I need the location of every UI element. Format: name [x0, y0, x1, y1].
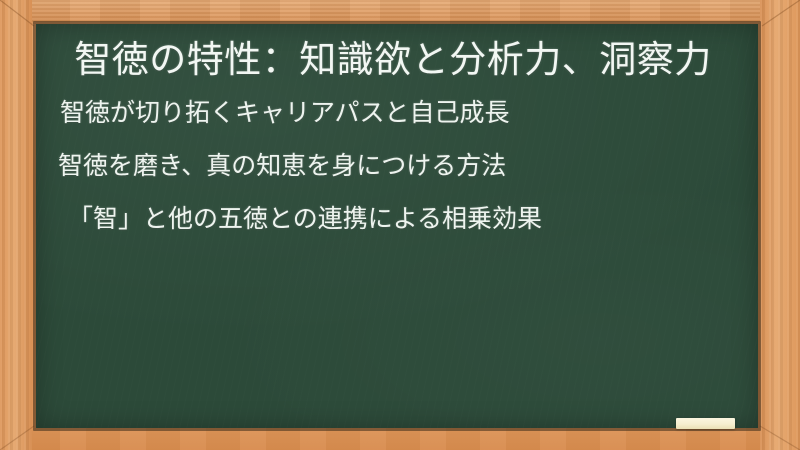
slide-canvas: 智徳の特性：知識欲と分析力、洞察力 智徳が切り拓くキャリアパスと自己成長 智徳を… [0, 0, 800, 450]
chalkboard-surface: 智徳の特性：知識欲と分析力、洞察力 智徳が切り拓くキャリアパスと自己成長 智徳を… [36, 24, 758, 428]
slide-title: 智徳の特性：知識欲と分析力、洞察力 [36, 38, 754, 82]
chalkboard-content: 智徳の特性：知識欲と分析力、洞察力 智徳が切り拓くキャリアパスと自己成長 智徳を… [36, 24, 758, 428]
slide-bullet-list: 智徳が切り拓くキャリアパスと自己成長 智徳を磨き、真の知恵を身につける方法 「智… [58, 100, 758, 259]
slide-line-2: 智徳を磨き、真の知恵を身につける方法 [58, 153, 758, 178]
frame-left-rail [0, 0, 32, 450]
slide-line-3: 「智」と他の五徳との連携による相乗効果 [58, 206, 758, 231]
chalk-stick [676, 418, 735, 429]
slide-line-1: 智徳が切り拓くキャリアパスと自己成長 [58, 100, 758, 125]
frame-right-rail [760, 0, 800, 450]
frame-bottom-ledge [0, 428, 800, 450]
